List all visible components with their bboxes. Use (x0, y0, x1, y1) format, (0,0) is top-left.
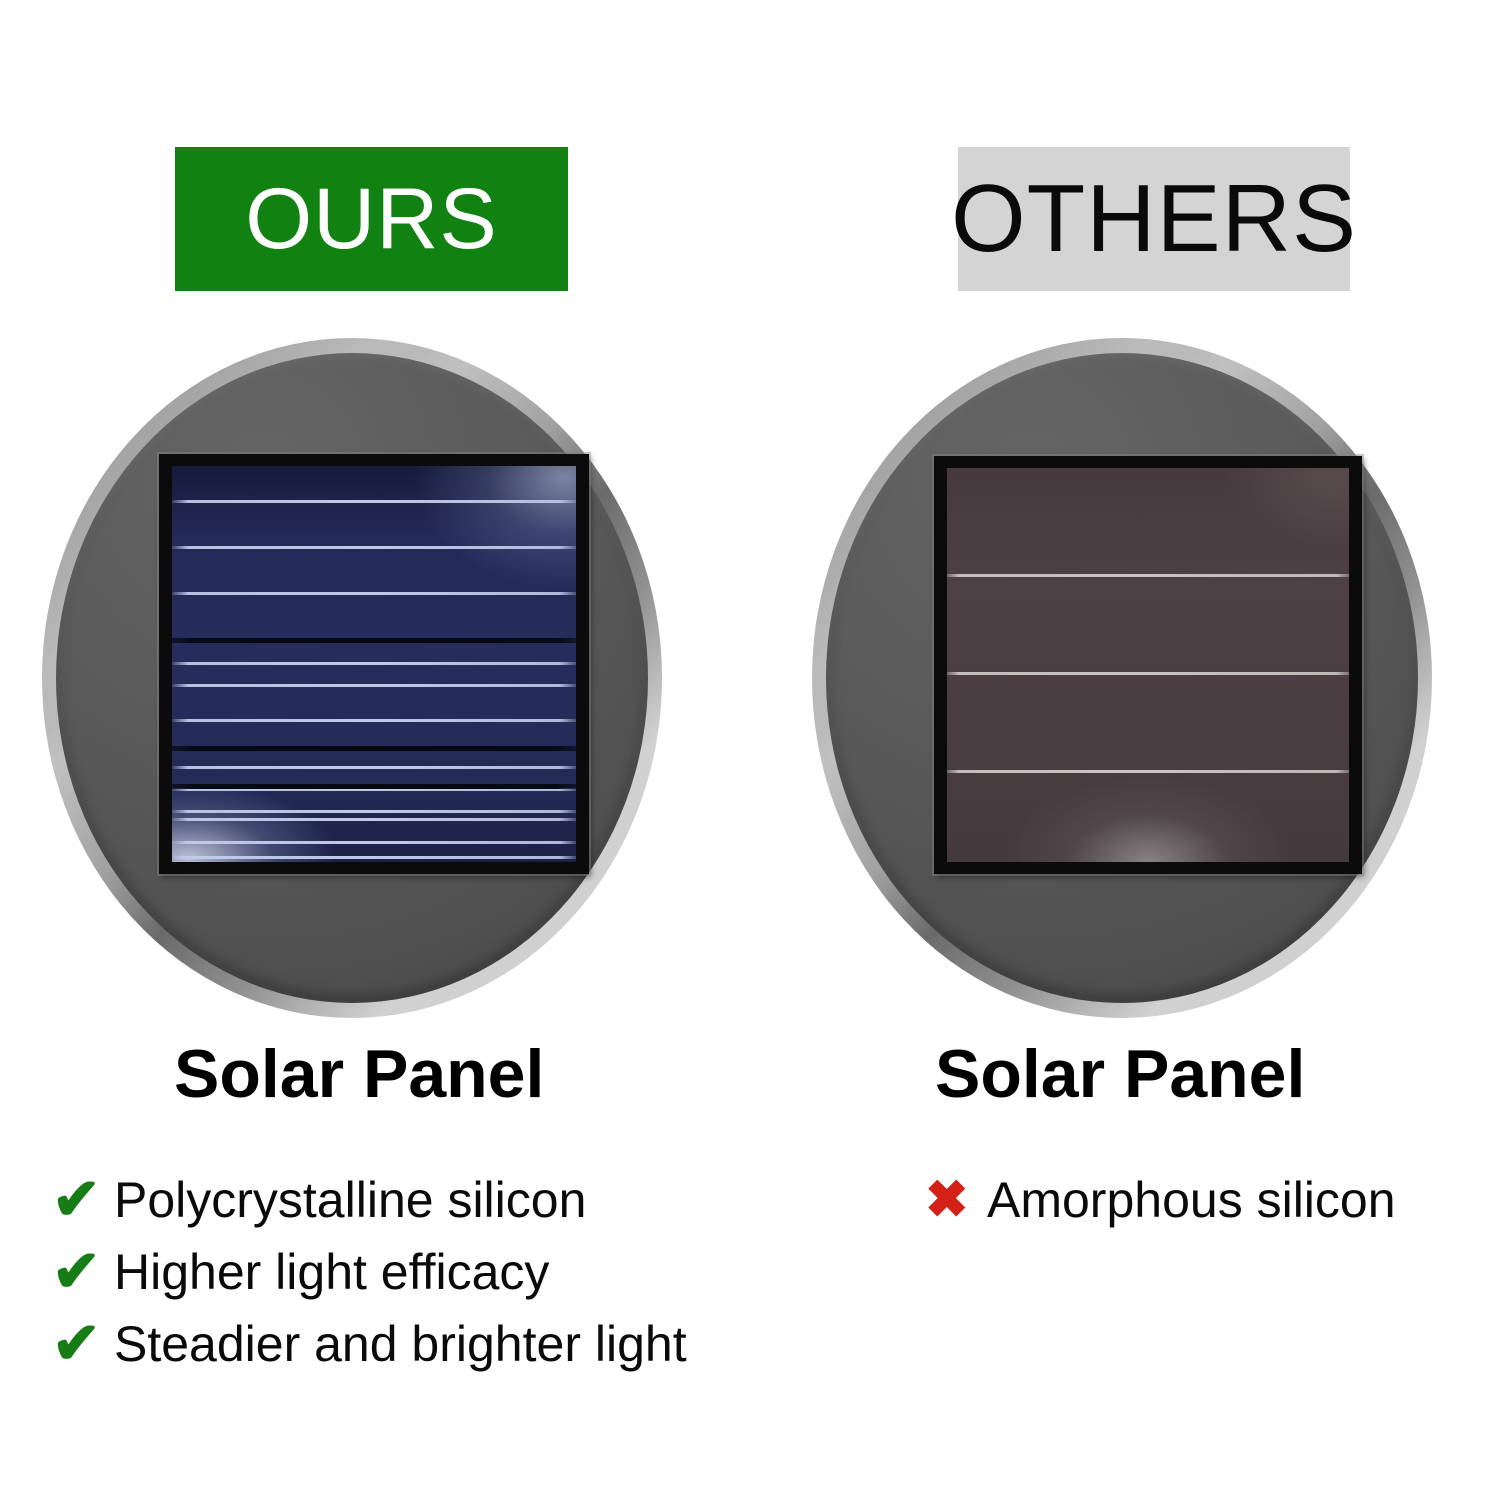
feature-label: Polycrystalline silicon (114, 1175, 586, 1225)
cell-line (172, 766, 576, 769)
cell-line (172, 788, 576, 791)
banner-ours: OURS (175, 147, 568, 291)
cell-line (172, 818, 576, 821)
banner-others: OTHERS (958, 147, 1350, 291)
solar-lamp-others (812, 338, 1432, 1018)
cell-line (172, 500, 576, 503)
comparison-infographic: OURS Solar Panel (0, 0, 1500, 1500)
cell-line (947, 770, 1349, 773)
check-icon: ✔ (52, 1315, 114, 1373)
busbar-line (172, 746, 576, 751)
feature-list-others: ✖ Amorphous silicon (925, 1164, 1396, 1236)
cell-line (172, 719, 576, 722)
product-title-ours: Solar Panel (174, 1040, 544, 1108)
feature-item: ✔ Polycrystalline silicon (52, 1164, 687, 1236)
check-icon: ✔ (52, 1171, 114, 1229)
feature-label: Steadier and brighter light (114, 1319, 687, 1369)
feature-label: Higher light efficacy (114, 1247, 549, 1297)
solar-panel-face-amorphous (947, 468, 1349, 862)
cell-line (172, 841, 576, 844)
feature-item: ✖ Amorphous silicon (925, 1164, 1396, 1236)
busbar-line (172, 638, 576, 643)
check-icon: ✔ (52, 1243, 114, 1301)
cell-line (947, 574, 1349, 577)
cross-icon: ✖ (925, 1174, 987, 1226)
product-title-others: Solar Panel (935, 1040, 1305, 1108)
solar-panel-face-polycrystalline (172, 466, 576, 862)
cell-line (172, 546, 576, 549)
solar-panel-frame-others (934, 456, 1362, 874)
solar-panel-frame-ours (159, 454, 589, 874)
solar-lamp-ours (42, 338, 662, 1018)
busbar-line (172, 784, 576, 789)
cell-line (172, 592, 576, 595)
cell-line (172, 810, 576, 813)
feature-label: Amorphous silicon (987, 1175, 1396, 1225)
cell-line (172, 684, 576, 687)
cell-line (947, 672, 1349, 675)
cell-line (172, 856, 576, 859)
feature-list-ours: ✔ Polycrystalline silicon ✔ Higher light… (52, 1164, 687, 1380)
cell-line (172, 662, 576, 665)
feature-item: ✔ Steadier and brighter light (52, 1308, 687, 1380)
feature-item: ✔ Higher light efficacy (52, 1236, 687, 1308)
